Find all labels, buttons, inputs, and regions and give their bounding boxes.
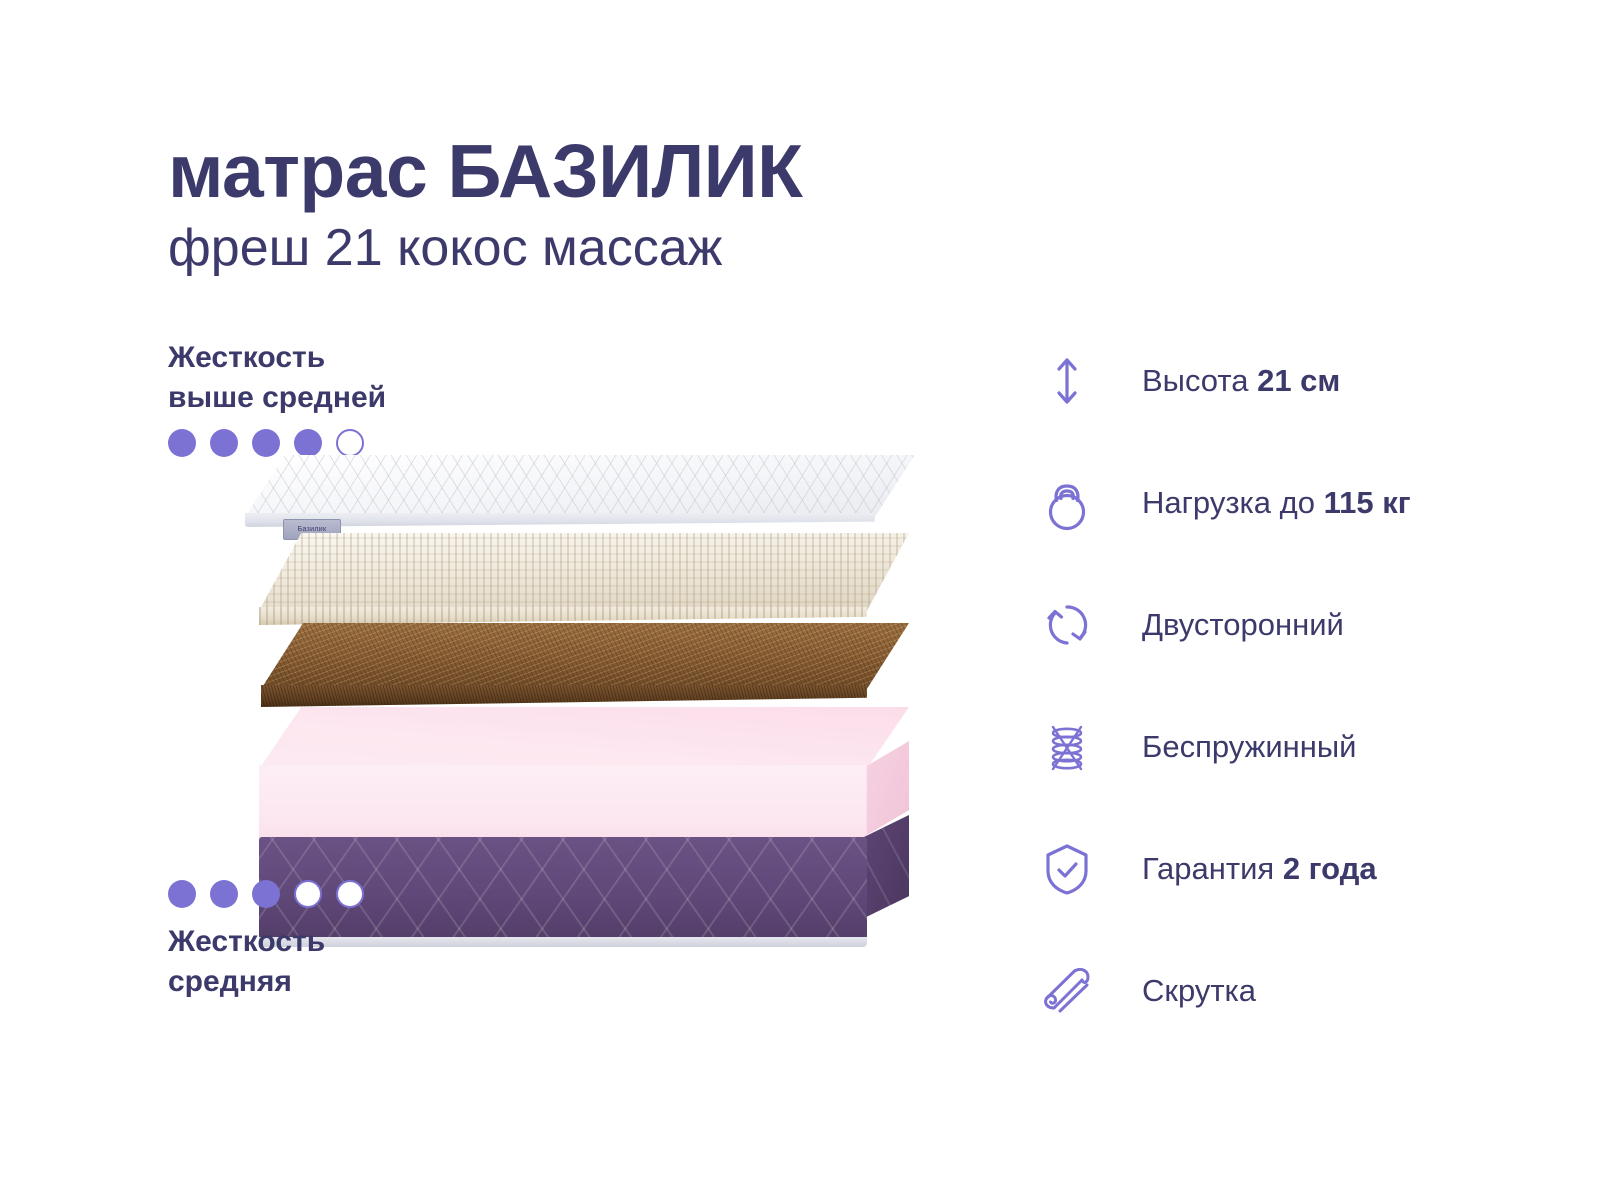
feature-two-sided-label: Двусторонний xyxy=(1142,608,1344,642)
product-infographic: матрас БАЗИЛИК фреш 21 кокос массаж Жест… xyxy=(0,0,1600,1200)
no-spring-icon xyxy=(1030,710,1104,784)
firmness-dot-filled xyxy=(168,429,196,457)
page-title: матрас БАЗИЛИК фреш 21 кокос массаж xyxy=(168,134,1068,276)
layer-quilted-cover: Базилик xyxy=(245,455,915,535)
coir-front-edge xyxy=(261,685,867,707)
feature-warranty: Гарантия 2 года xyxy=(1030,808,1550,930)
feature-height-label: Высота 21 см xyxy=(1142,364,1340,398)
firmness-dot-empty xyxy=(336,880,364,908)
firmness-dot-filled xyxy=(252,880,280,908)
massage-top-surface xyxy=(259,533,909,611)
firmness-bottom-dots xyxy=(168,880,588,908)
firmness-bottom-side: Жесткость средняя xyxy=(168,880,588,1001)
feature-two-sided: Двусторонний xyxy=(1030,564,1550,686)
firmness-top-label-line1: Жесткость xyxy=(168,338,588,378)
firmness-dot-filled xyxy=(210,880,238,908)
firmness-top-side: Жесткость выше средней xyxy=(168,338,588,457)
firmness-bottom-label-line2: средняя xyxy=(168,962,588,1002)
shield-check-icon xyxy=(1030,832,1104,906)
feature-springless-label: Беспружинный xyxy=(1142,730,1357,764)
cover-top-surface xyxy=(245,455,915,517)
firmness-dot-filled xyxy=(294,429,322,457)
feature-springless: Беспружинный xyxy=(1030,686,1550,808)
firmness-dot-empty xyxy=(336,429,364,457)
rotate-icon xyxy=(1030,588,1104,662)
firmness-dot-empty xyxy=(294,880,322,908)
feature-height: Высота 21 см xyxy=(1030,320,1550,442)
firmness-dot-filled xyxy=(252,429,280,457)
feature-roll-packed-label: Скрутка xyxy=(1142,974,1256,1008)
coir-top-surface xyxy=(261,623,909,689)
firmness-top-label-line2: выше средней xyxy=(168,378,588,418)
layer-massage-foam xyxy=(259,533,909,633)
feature-load-label: Нагрузка до 115 кг xyxy=(1142,486,1411,520)
feature-roll-packed: Скрутка xyxy=(1030,930,1550,1052)
feature-load: Нагрузка до 115 кг xyxy=(1030,442,1550,564)
kettlebell-icon xyxy=(1030,466,1104,540)
layer-coconut-coir xyxy=(261,623,909,715)
height-arrow-icon xyxy=(1030,344,1104,418)
firmness-dot-filled xyxy=(210,429,238,457)
product-subtitle: фреш 21 кокос массаж xyxy=(168,221,1068,276)
firmness-bottom-label-line1: Жесткость xyxy=(168,922,588,962)
feature-warranty-label: Гарантия 2 года xyxy=(1142,852,1377,886)
roll-icon xyxy=(1030,954,1104,1028)
feature-list: Высота 21 см Нагрузка до 115 кг xyxy=(1030,320,1550,1052)
product-title: матрас БАЗИЛИК xyxy=(168,134,1068,209)
firmness-top-dots xyxy=(168,429,588,457)
foam-top-surface xyxy=(259,707,909,769)
mattress-layers-illustration: Базилик xyxy=(245,455,915,875)
firmness-dot-filled xyxy=(168,880,196,908)
